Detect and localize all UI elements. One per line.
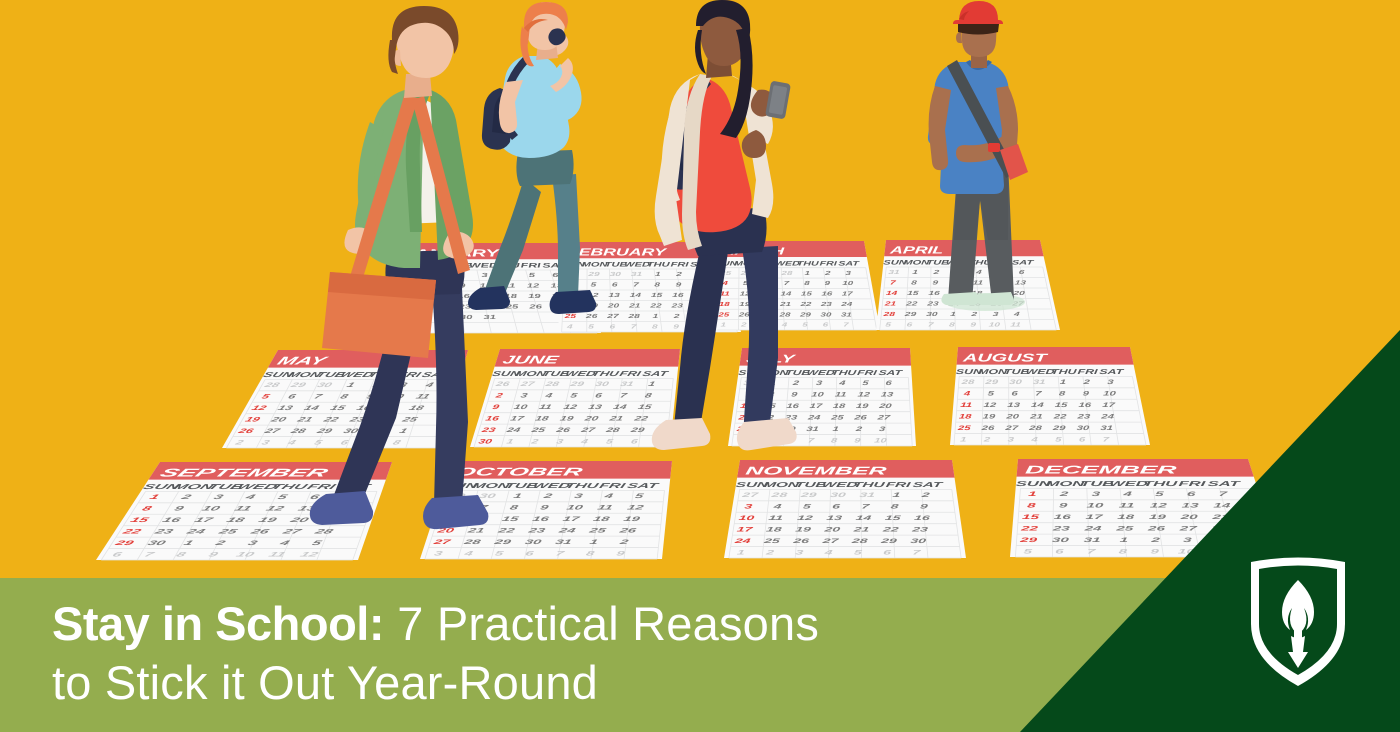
headline: Stay in School: 7 Practical Reasons to S… [52,596,952,711]
headline-strong: Stay in School: [52,597,384,650]
headline-light-1: 7 Practical Reasons [384,597,819,650]
shield-flame-logo[interactable] [1243,556,1353,690]
headline-line-1: Stay in School: 7 Practical Reasons [52,596,952,651]
headline-line-2: to Stick it Out Year-Round [52,655,952,710]
person-blue-top-phone [468,2,596,314]
hero-banner: .mn{font-family:"Liberation Sans Narrow"… [0,0,1400,732]
person-blue-tshirt-cap [928,1,1028,311]
person-green-jacket [310,6,489,529]
person-cream-coat [652,0,797,450]
